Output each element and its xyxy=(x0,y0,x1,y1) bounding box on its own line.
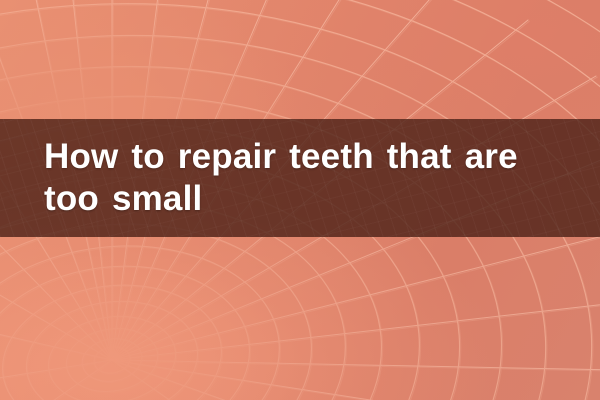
title-overlay-band: How to repair teeth that are too small xyxy=(0,119,600,237)
page-title: How to repair teeth that are too small xyxy=(44,136,576,220)
screenshot-canvas: How to repair teeth that are too small xyxy=(0,0,600,400)
